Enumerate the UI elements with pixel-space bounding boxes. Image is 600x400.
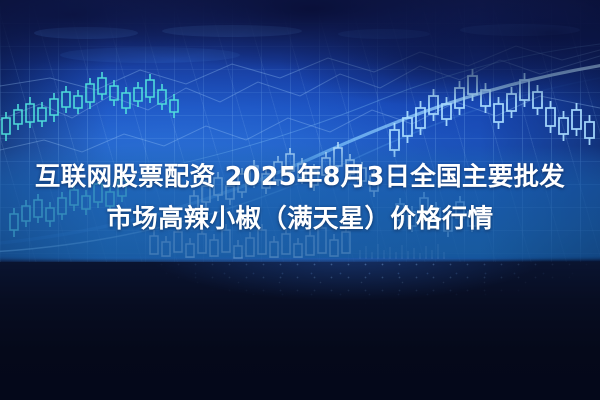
particle-dust: [0, 258, 600, 400]
candlestick-cluster-right: [390, 69, 594, 157]
candlestick-cluster-left: [2, 72, 178, 141]
band-tick-texture: [360, 244, 444, 259]
title-line-1: 互联网股票配资 2025年8月3日全国主要批发: [0, 156, 600, 198]
banner-title: 互联网股票配资 2025年8月3日全国主要批发 市场高辣小椒（满天星）价格行情: [0, 156, 600, 240]
background-under-glow: [0, 258, 600, 378]
trend-polylines: [0, 46, 600, 152]
top-glow-smudges: [34, 24, 580, 63]
title-line-2: 市场高辣小椒（满天星）价格行情: [0, 198, 600, 240]
article-banner-image: 互联网股票配资 2025年8月3日全国主要批发 市场高辣小椒（满天星）价格行情: [0, 0, 600, 400]
background-dark-top-clouds: [0, 0, 600, 150]
